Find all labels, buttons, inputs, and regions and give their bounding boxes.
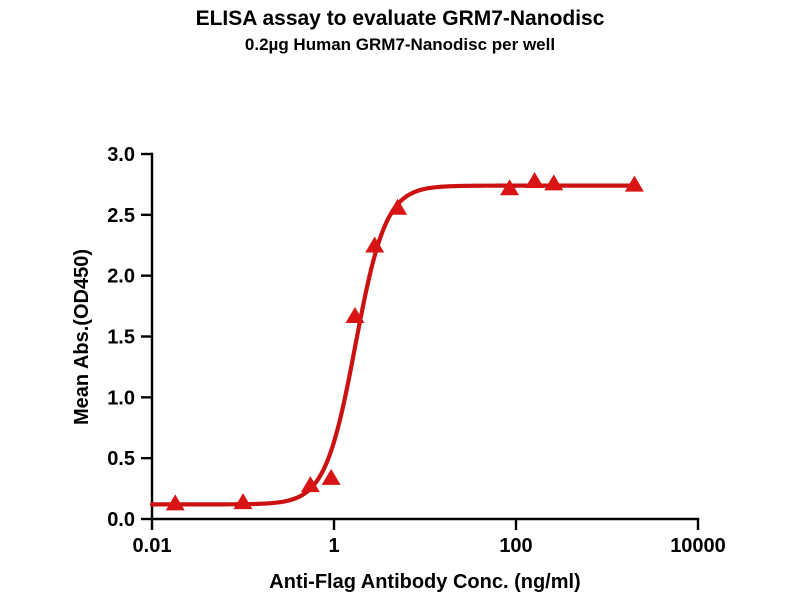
x-tick-label: 10000 <box>670 535 726 557</box>
elisa-chart-figure: ELISA assay to evaluate GRM7-Nanodisc 0.… <box>0 0 800 600</box>
data-point-marker <box>234 493 253 509</box>
y-axis-tick-labels: 0.00.51.01.52.02.53.0 <box>107 144 135 531</box>
y-tick-label: 0.0 <box>107 509 135 531</box>
data-point-marker <box>388 199 407 215</box>
y-axis-title: Mean Abs.(OD450) <box>71 249 93 425</box>
x-tick-label: 100 <box>499 535 532 557</box>
x-axis-title: Anti-Flag Antibody Conc. (ng/ml) <box>269 571 580 593</box>
sigmoid-fit-curve <box>152 186 635 505</box>
data-point-marker <box>544 174 563 190</box>
x-tick-label: 0.01 <box>133 535 172 557</box>
x-tick-label: 1 <box>328 535 339 557</box>
y-tick-label: 1.0 <box>107 387 135 409</box>
data-point-markers <box>166 172 644 510</box>
axis-lines <box>152 154 698 519</box>
data-point-marker <box>525 172 544 188</box>
y-tick-label: 0.5 <box>107 448 135 470</box>
x-axis-ticks <box>152 519 698 530</box>
y-tick-label: 1.5 <box>107 327 135 349</box>
x-axis-tick-labels: 0.01110010000 <box>133 535 726 557</box>
axes-group: 0.00.51.01.52.02.53.0 0.01110010000 <box>107 144 726 557</box>
y-tick-label: 2.0 <box>107 266 135 288</box>
y-axis-ticks <box>141 154 152 519</box>
y-tick-label: 3.0 <box>107 144 135 166</box>
chart-plot-area: 0.00.51.01.52.02.53.0 0.01110010000 Anti… <box>0 0 800 600</box>
y-tick-label: 2.5 <box>107 205 135 227</box>
